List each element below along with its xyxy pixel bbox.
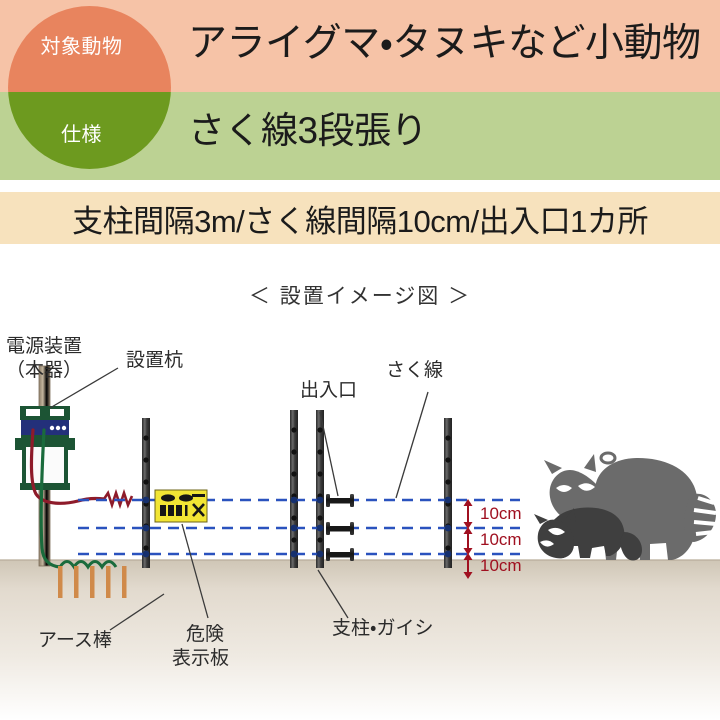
dimension-label-2: 10cm [480, 530, 522, 550]
dimension-label-1: 10cm [480, 504, 522, 524]
label-fence-wire: さく線 [386, 360, 443, 382]
installation-diagram: 電源装置 （本器） 設置杭 出入口 さく線 アース棒 危険 表示板 支柱・ガイシ… [0, 318, 720, 720]
fence-post [316, 410, 324, 568]
fence-post [444, 418, 452, 568]
fence-post [290, 410, 298, 568]
label-danger-sign-line2: 表示板 [172, 648, 229, 670]
target-animal-text: アライグマ・タヌキなど小動物 [188, 24, 700, 63]
gate-handle [326, 494, 354, 507]
label-mounting-stake: 設置杭 [126, 350, 183, 372]
danger-sign [155, 490, 207, 522]
label-power-unit-line1: 電源装置 [6, 336, 82, 358]
power-unit [15, 406, 75, 490]
badge-label-spec: 仕様 [0, 118, 163, 147]
label-power-unit-line2: （本器） [6, 360, 82, 382]
spec-text: さく線3段張り [188, 112, 427, 149]
gate-handle [326, 522, 354, 535]
dimension-label-3: 10cm [480, 556, 522, 576]
badge-label-target-animal: 対象動物 [0, 30, 163, 59]
gate-handle [326, 548, 354, 561]
diagram-caption: ＜ 設置イメージ図 ＞ [0, 280, 720, 310]
label-earth-rod: アース棒 [38, 630, 112, 652]
infographic-page: アライグマ・タヌキなど小動物 さく線3段張り 対象動物 仕様 支柱間隔3m/さく… [0, 0, 720, 720]
label-post-insulator: 支柱・ガイシ [332, 618, 433, 640]
label-gate: 出入口 [300, 380, 357, 402]
fence-post [142, 418, 150, 568]
label-danger-sign-line1: 危険 [186, 624, 224, 646]
diagram-svg [0, 318, 720, 720]
spec-strip-text: 支柱間隔3m/さく線間隔10cm/出入口1カ所 [0, 196, 720, 241]
